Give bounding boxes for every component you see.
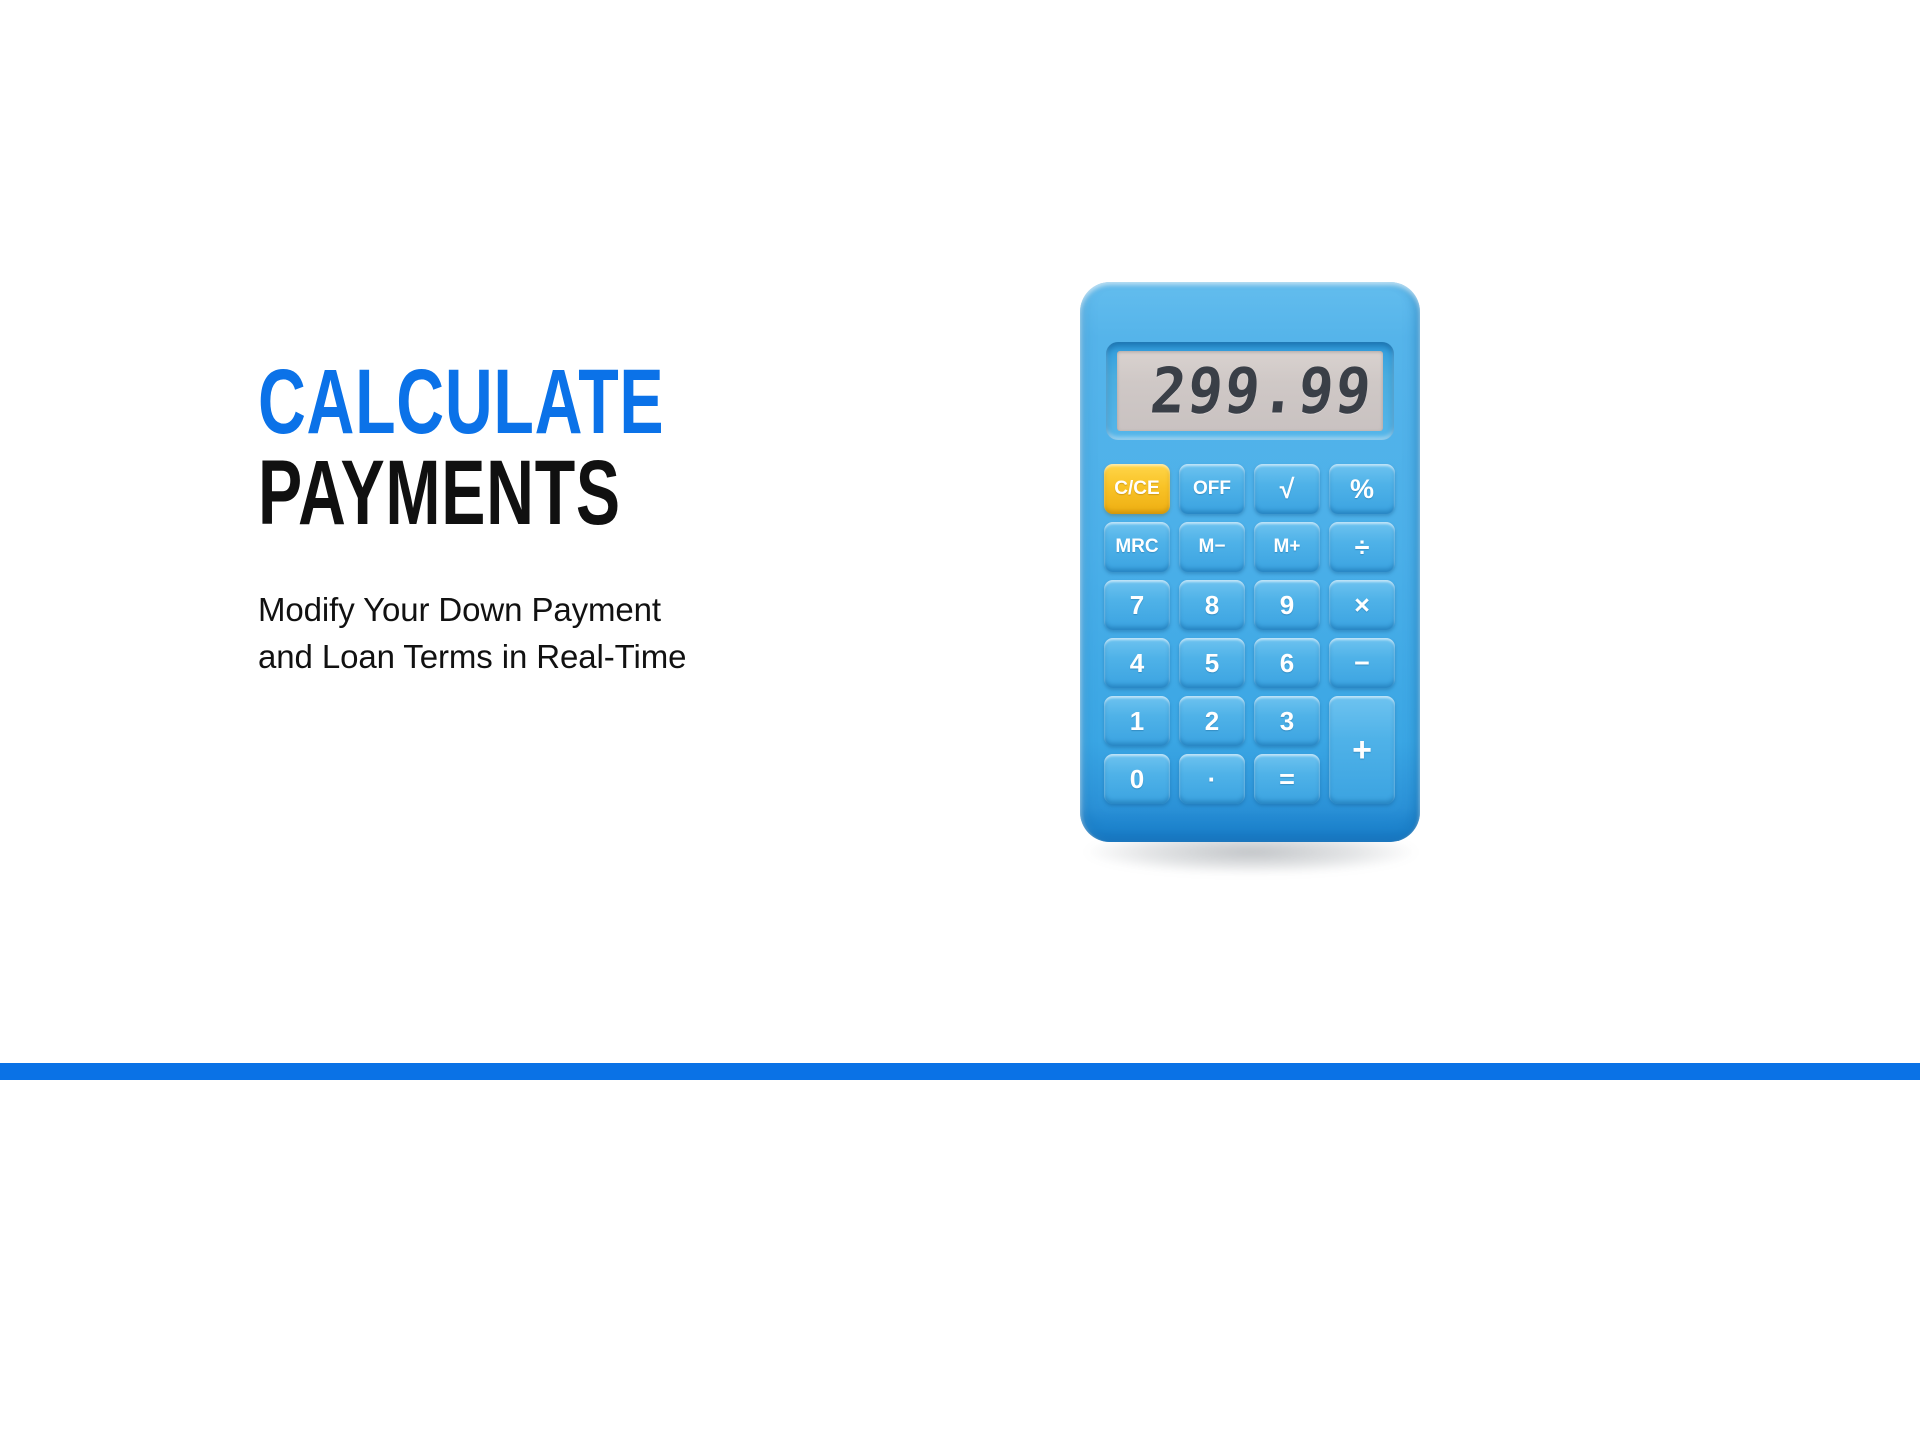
key-plus[interactable]: + (1329, 696, 1395, 804)
key-equals[interactable]: = (1254, 754, 1320, 804)
hero-copy-block: CALCULATE PAYMENTS Modify Your Down Paym… (258, 360, 898, 681)
calculator-display-value: 299.99 (1148, 360, 1376, 423)
key-decimal[interactable]: · (1179, 754, 1245, 804)
calculator-lcd-screen: 299.99 (1117, 351, 1383, 431)
headline-line-1: CALCULATE (258, 360, 719, 445)
key-off[interactable]: OFF (1179, 464, 1245, 514)
key-8[interactable]: 8 (1179, 580, 1245, 630)
key-sqrt[interactable]: √ (1254, 464, 1320, 514)
key-clear[interactable]: C/CE (1104, 464, 1170, 514)
key-7[interactable]: 7 (1104, 580, 1170, 630)
headline-line-2: PAYMENTS (258, 451, 719, 536)
calculator-illustration: 299.99 C/CEOFF√%MRCM−M+÷789×456−123+0·= (1080, 282, 1420, 860)
footer-section: NO BRAINER CHECKOUT ™ DGDG BE HAPPY (0, 1080, 1920, 1440)
key-0[interactable]: 0 (1104, 754, 1170, 804)
key-mrc[interactable]: MRC (1104, 522, 1170, 572)
hero-subtitle-line-2: and Loan Terms in Real-Time (258, 634, 858, 681)
section-divider-bar (0, 1063, 1920, 1080)
key-m-plus[interactable]: M+ (1254, 522, 1320, 572)
slide-root: CALCULATE PAYMENTS Modify Your Down Paym… (0, 0, 1920, 1440)
key-multiply[interactable]: × (1329, 580, 1395, 630)
key-divide[interactable]: ÷ (1329, 522, 1395, 572)
calculator-body: 299.99 C/CEOFF√%MRCM−M+÷789×456−123+0·= (1080, 282, 1420, 842)
hero-subtitle: Modify Your Down Payment and Loan Terms … (258, 587, 858, 681)
page-title: CALCULATE PAYMENTS (258, 360, 898, 535)
calculator-keypad: C/CEOFF√%MRCM−M+÷789×456−123+0·= (1104, 464, 1396, 804)
key-6[interactable]: 6 (1254, 638, 1320, 688)
key-1[interactable]: 1 (1104, 696, 1170, 746)
key-minus[interactable]: − (1329, 638, 1395, 688)
key-5[interactable]: 5 (1179, 638, 1245, 688)
calculator-display-bezel: 299.99 (1106, 342, 1394, 440)
key-m-minus[interactable]: M− (1179, 522, 1245, 572)
key-2[interactable]: 2 (1179, 696, 1245, 746)
key-9[interactable]: 9 (1254, 580, 1320, 630)
key-percent[interactable]: % (1329, 464, 1395, 514)
key-3[interactable]: 3 (1254, 696, 1320, 746)
hero-section: CALCULATE PAYMENTS Modify Your Down Paym… (0, 0, 1920, 1063)
hero-subtitle-line-1: Modify Your Down Payment (258, 587, 858, 634)
key-4[interactable]: 4 (1104, 638, 1170, 688)
